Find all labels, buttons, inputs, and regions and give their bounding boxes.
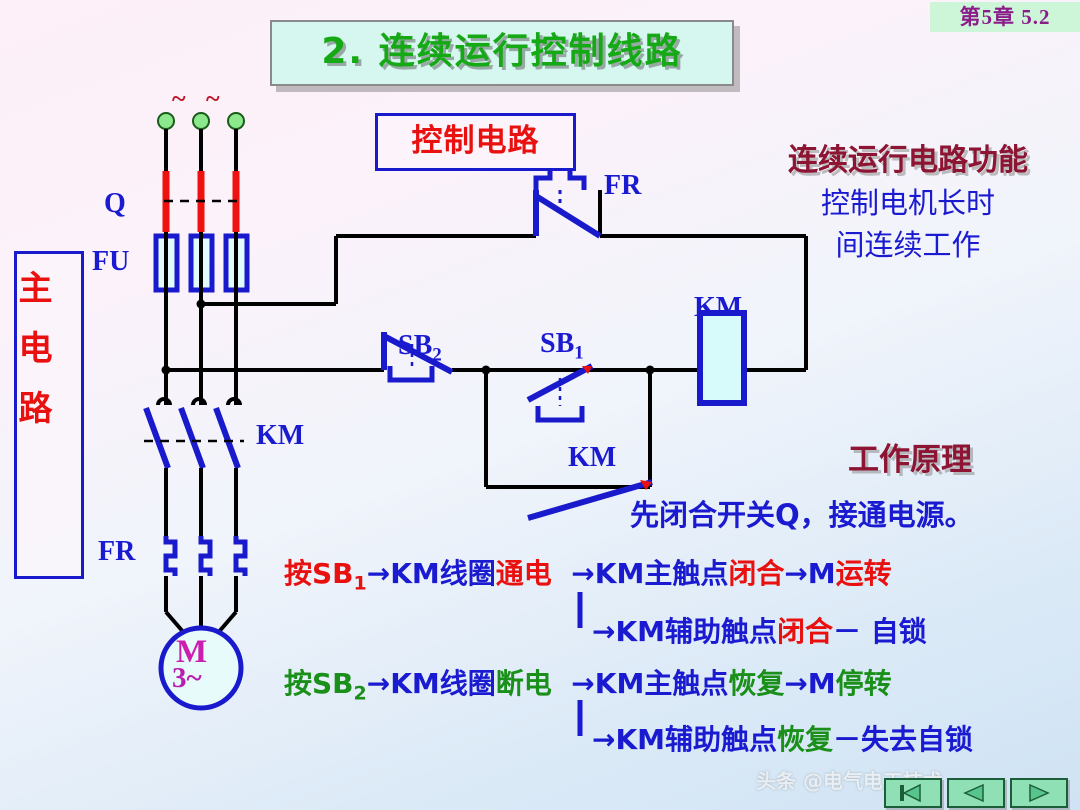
nav-first-button[interactable]	[884, 778, 942, 808]
label-FR-main: FR	[98, 536, 135, 568]
slide-navigation[interactable]	[884, 778, 1068, 808]
control-circuit-label: 控制电路	[378, 116, 573, 168]
supply-wires	[166, 129, 236, 171]
explanation-line-4: →KM辅助触点恢复－失去自锁	[592, 718, 973, 758]
SB1-pushbutton	[528, 366, 592, 420]
function-block-title: 连续运行电路功能	[748, 135, 1068, 179]
label-SB1: SB1	[540, 328, 584, 365]
fr-to-motor-wires	[166, 576, 236, 634]
explanation-line-2: →KM辅助触点闭合－ 自锁	[592, 610, 927, 650]
nav-next-button[interactable]	[1010, 778, 1068, 808]
ac-tilde-icon-2: ~	[206, 84, 220, 114]
label-Q: Q	[104, 188, 126, 220]
main-phase-wires	[166, 294, 236, 405]
principle-block-title: 工作原理	[760, 434, 1060, 479]
label-SB2: SB2	[398, 330, 442, 367]
control-circuit-label-box: 控制电路	[375, 113, 576, 171]
explanation-line-1: 按SB1→KM线圈通电 →KM主触点闭合→M运转	[284, 552, 892, 595]
main-circuit-label-box: 主电路	[14, 251, 84, 579]
nav-prev-button[interactable]	[947, 778, 1005, 808]
next-slide-icon	[1012, 780, 1066, 806]
FR-heaters	[166, 536, 245, 576]
first-slide-icon	[886, 780, 940, 806]
KM-coil	[700, 313, 744, 403]
KM-main-contacts	[144, 399, 244, 468]
label-KM-coil: KM	[694, 292, 742, 324]
chapter-tag: 第5章 5.2	[930, 2, 1080, 32]
principle-block-line1: 先闭合开关Q，接通电源。	[630, 492, 1070, 534]
label-KM-main: KM	[256, 420, 304, 452]
label-FR-control: FR	[604, 170, 641, 202]
explanation-line-3: 按SB2→KM线圈断电 →KM主触点恢复→M停转	[284, 662, 892, 705]
slide-title-box: 2. 连续运行控制线路	[270, 20, 734, 86]
motor-label-phase: 3~	[172, 662, 202, 695]
km-to-fr-wires	[166, 468, 236, 536]
label-FU: FU	[92, 246, 129, 278]
function-block-line2: 间连续工作	[748, 222, 1068, 264]
ac-tilde-icon-1: ~	[172, 84, 186, 114]
label-KM-auxiliary: KM	[568, 442, 616, 474]
previous-slide-icon	[949, 780, 1003, 806]
supply-terminals	[158, 113, 244, 129]
FR-control-contact	[536, 168, 600, 236]
main-circuit-label: 主电路	[17, 270, 81, 450]
slide-title: 2. 连续运行控制线路	[272, 22, 732, 84]
function-block-line1: 控制电机长时	[748, 180, 1068, 222]
